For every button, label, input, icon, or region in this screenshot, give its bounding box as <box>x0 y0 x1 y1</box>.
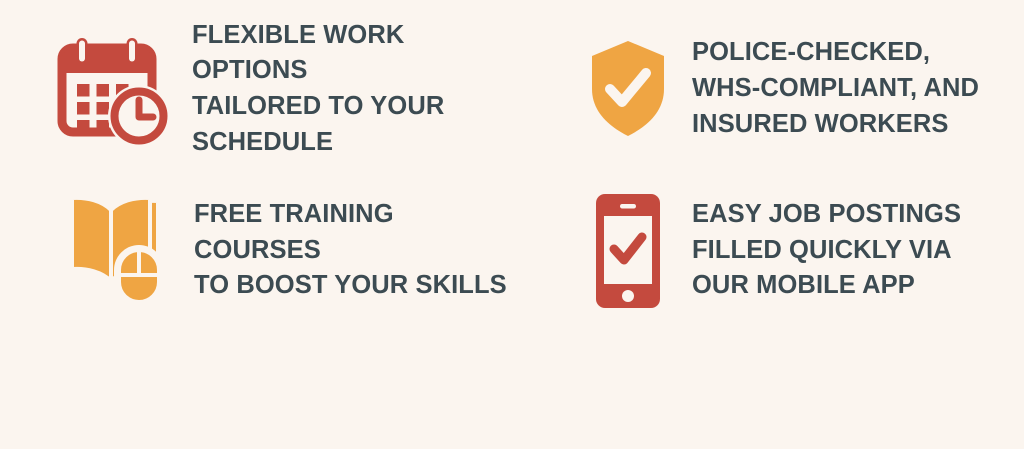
mobile-phone-check-icon <box>580 192 676 310</box>
open-book-mouse-icon <box>52 192 170 310</box>
benefit-item-flexible-work: FLEXIBLE WORK OPTIONS TAILORED TO YOUR S… <box>0 0 512 178</box>
shield-check-icon <box>580 30 676 148</box>
benefits-grid: FLEXIBLE WORK OPTIONS TAILORED TO YOUR S… <box>0 0 1024 449</box>
benefit-item-free-training: FREE TRAINING COURSES TO BOOST YOUR SKIL… <box>0 178 512 323</box>
calendar-clock-icon <box>52 30 170 148</box>
benefit-item-easy-job-postings: EASY JOB POSTINGS FILLED QUICKLY VIA OUR… <box>512 178 1024 323</box>
benefit-label: EASY JOB POSTINGS FILLED QUICKLY VIA OUR… <box>692 197 961 304</box>
benefit-label: FREE TRAINING COURSES TO BOOST YOUR SKIL… <box>194 197 512 304</box>
benefit-item-police-checked: POLICE-CHECKED, WHS-COMPLIANT, AND INSUR… <box>512 0 1024 178</box>
benefit-label: POLICE-CHECKED, WHS-COMPLIANT, AND INSUR… <box>692 35 979 142</box>
benefit-label: FLEXIBLE WORK OPTIONS TAILORED TO YOUR S… <box>192 18 512 161</box>
